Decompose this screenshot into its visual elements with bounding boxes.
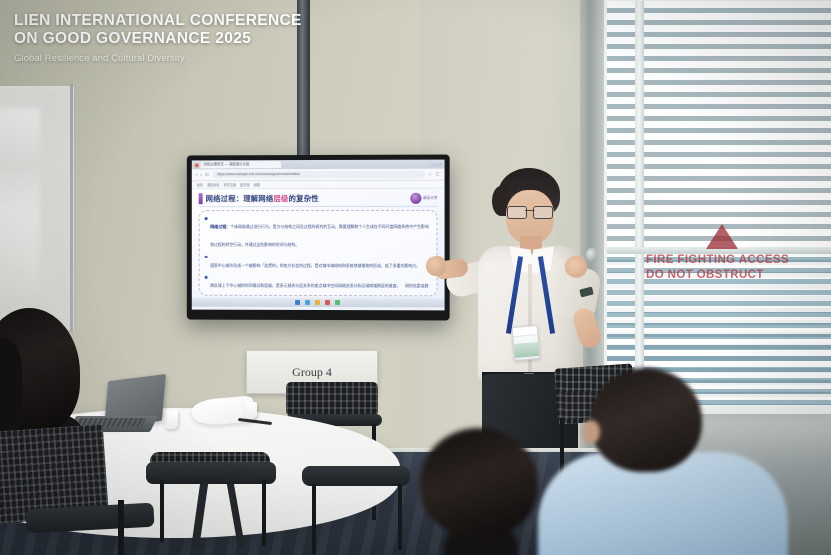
slide-title-suffix: 的复杂性 [289, 194, 319, 203]
reload-icon[interactable]: ↻ [205, 172, 209, 178]
browser-tab[interactable]: 网络治理研究 — 课程演示文稿 [201, 161, 281, 168]
stool-leg [398, 484, 402, 550]
glasses-lens-left [507, 206, 527, 219]
bullet-text: ：个体网络通过进行行为，是为与结构之间及过程的研究的互动，需要理解和个人生成在不… [210, 224, 429, 247]
bullet-text: 跨区域上下中心城的时间情况和层级，是多元城多分层关系的差点域市空间网络关系分析区… [210, 283, 400, 288]
folder-icon[interactable] [315, 300, 320, 305]
glasses-icon [506, 206, 554, 217]
bullet-text: 国家中心城市形成一个被影响「连贯的」的各方社会的过程，是对域市域结构和系统地域推… [210, 262, 420, 267]
fire-fighting-access-sign: FIRE FIGHTING ACCESS DO NOT OBSTRUCT [646, 224, 796, 286]
paper-cup[interactable] [164, 410, 178, 429]
os-taskbar[interactable] [192, 298, 445, 308]
slide-bullet: 国家中心城市形成一个被影响「连贯的」的各方社会的过程，是对域市域结构和系统地域推… [205, 253, 432, 271]
attendee-head [420, 428, 538, 536]
slide-title-highlight: 层级 [273, 194, 288, 203]
back-icon[interactable]: ‹ [196, 172, 198, 178]
attendee-foreground-blue [548, 368, 788, 555]
university-name: 南京大学 [423, 196, 438, 200]
attendee-head [590, 368, 702, 472]
browser-app-icon [195, 163, 199, 167]
stool-leg [312, 484, 316, 554]
bookmark-item[interactable]: 邮箱 [254, 182, 260, 187]
bullet-marker [205, 256, 208, 259]
bookmark-item[interactable]: 研究文献 [224, 182, 237, 187]
badge-header [513, 326, 538, 337]
slide-body: 网络过程：个体网络通过进行行为，是为与结构之间及过程的研究的互动，需要理解和个人… [199, 210, 438, 296]
window [600, 0, 831, 414]
presenter-left-hand [426, 256, 446, 276]
table-sign-label: Group 4 [292, 365, 332, 380]
forward-icon[interactable]: › [200, 172, 202, 178]
whiteboard-edge [70, 84, 73, 332]
mail-icon[interactable] [325, 300, 330, 305]
chair-leg [160, 480, 164, 542]
university-logo: 南京大学 [410, 193, 438, 204]
bookmark-item[interactable]: 常用 [197, 182, 203, 187]
paper-cup[interactable] [245, 402, 257, 419]
bookmark-item[interactable]: 课程资料 [207, 182, 220, 187]
chair-leg [118, 500, 124, 555]
browser-address-bar[interactable]: ‹ › ↻ https://www.example.edu.cn/courses… [192, 169, 445, 182]
slide-title: 网络过程：理解网络层级的复杂性 [206, 193, 319, 204]
university-seal-icon [410, 193, 421, 204]
bullet-lead: 网络过程 [210, 224, 226, 229]
whiteboard [0, 86, 76, 330]
badge-artwork [514, 342, 539, 358]
slide-bullet: 网络过程：个体网络通过进行行为，是为与结构之间及过程的研究的互动，需要理解和个人… [205, 215, 432, 251]
glasses-lens-right [533, 206, 553, 219]
fire-sign-line-2: DO NOT OBSTRUCT [646, 269, 796, 281]
browser-icon[interactable] [305, 300, 310, 305]
chair-leg [262, 480, 266, 546]
chair-back[interactable] [286, 382, 378, 416]
bullet-marker [205, 276, 208, 279]
chat-icon[interactable] [335, 300, 340, 305]
conference-room-photo: FIRE FIGHTING ACCESS DO NOT OBSTRUCT 网络治… [0, 0, 831, 555]
attendee-ear [582, 420, 600, 444]
name-badge [512, 325, 541, 361]
display-screen: 网络治理研究 — 课程演示文稿 — □ × ‹ › ↻ https://www.… [192, 160, 445, 311]
slide-title-accent [199, 193, 203, 204]
bookmark-item[interactable]: 图书馆 [240, 182, 249, 187]
window-controls[interactable]: — □ × [430, 162, 441, 167]
toolbar-icons[interactable]: ☆ ☰ [428, 171, 440, 177]
chair-seat[interactable] [146, 462, 276, 484]
stool-seat[interactable] [302, 466, 410, 486]
slide-title-prefix: 网络过程：理解网络 [206, 194, 274, 203]
window-mullion-vertical [635, 1, 644, 407]
slide-title-row: 网络过程：理解网络层级的复杂性 南京大学 [199, 193, 438, 207]
bullet-marker [205, 217, 208, 220]
window-glass [607, 1, 831, 407]
attendee-foreground-dark [408, 428, 578, 555]
display-mount-pole [297, 0, 310, 170]
fire-sign-line-1: FIRE FIGHTING ACCESS [646, 254, 796, 266]
address-input[interactable]: https://www.example.edu.cn/courses/gover… [212, 171, 425, 179]
presentation-display[interactable]: 网络治理研究 — 课程演示文稿 — □ × ‹ › ↻ https://www.… [187, 155, 450, 321]
start-icon[interactable] [295, 300, 300, 305]
warning-triangle-icon [706, 224, 738, 249]
slide-content: 网络过程：理解网络层级的复杂性 南京大学 网络过程：个体网络通过进行行为，是为与… [192, 189, 445, 308]
